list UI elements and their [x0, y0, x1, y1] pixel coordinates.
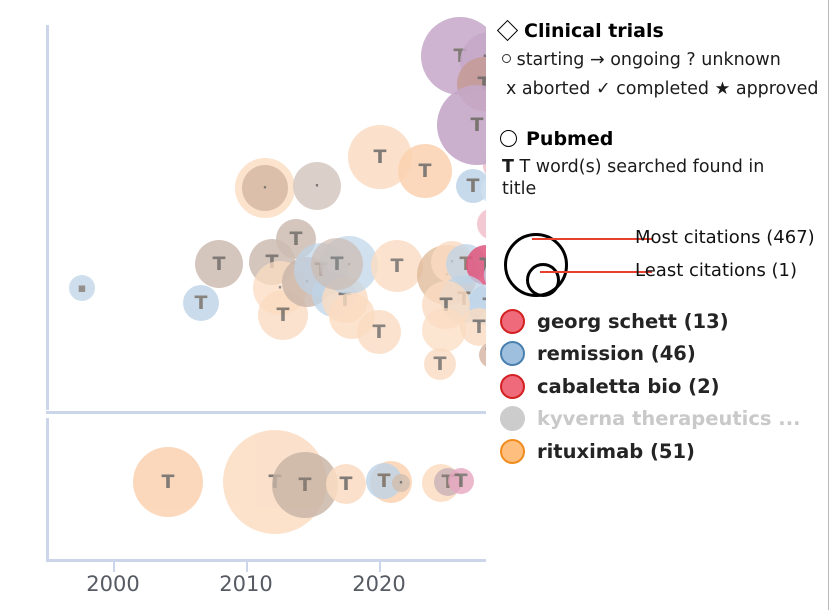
data-bubble[interactable]: T — [195, 240, 243, 288]
bubble-title-marker: T — [162, 473, 175, 492]
legend-entry-label: georg schett (13) — [537, 310, 729, 333]
data-bubble[interactable]: T — [311, 238, 363, 290]
citation-size-legend — [504, 233, 624, 305]
pubmed-title-note: T T word(s) searched found in title — [502, 157, 772, 201]
legend-divider — [828, 0, 829, 610]
legend-entry[interactable]: cabaletta bio (2) — [500, 370, 801, 403]
data-bubble[interactable]: · — [293, 162, 341, 210]
pubmed-t-glyph: T — [502, 157, 514, 177]
data-bubble[interactable]: T — [398, 144, 452, 198]
legend-color-swatch — [500, 341, 525, 366]
legend-color-swatch — [500, 309, 525, 334]
x-axis-tick-label: 2000 — [86, 572, 139, 596]
clinical-trials-status-line-2: x aborted ✓ completed ★ approved — [506, 79, 819, 99]
data-bubble[interactable]: T — [424, 348, 456, 380]
bubble-title-marker: T — [340, 475, 353, 494]
legend-color-swatch — [500, 406, 525, 431]
bubble-dot-marker: · — [263, 182, 268, 195]
bubble-title-marker: T — [467, 177, 480, 196]
size-circle-least-citations — [526, 263, 560, 297]
bubble-title-marker: T — [373, 323, 386, 342]
x-axis-tick-label: 2020 — [352, 572, 405, 596]
bubble-title-marker: T — [213, 255, 226, 274]
data-bubble[interactable]: T — [357, 310, 401, 354]
least-citations-label: Least citations (1) — [635, 260, 797, 281]
bubble-title-marker: T — [455, 472, 468, 491]
circle-outline-icon — [500, 130, 517, 147]
pubmed-heading: Pubmed — [500, 128, 613, 150]
bubble-dot-marker: · — [315, 180, 320, 193]
data-bubble[interactable]: T — [448, 468, 474, 494]
x-axis-tick — [379, 561, 381, 572]
legend-entry[interactable]: kyverna therapeutics ... — [500, 403, 801, 436]
bubble-title-marker: T — [378, 472, 391, 491]
bubble-dot-marker: ▪ — [78, 282, 87, 295]
data-bubble[interactable]: T — [183, 285, 219, 321]
data-bubble[interactable] — [477, 208, 486, 240]
bubble-title-marker: T — [434, 355, 447, 374]
bubble-title-marker: T — [195, 294, 208, 313]
legend-entry-label: cabaletta bio (2) — [537, 375, 720, 398]
data-bubble[interactable]: ▪ — [69, 275, 95, 301]
x-axis-tick — [246, 561, 248, 572]
legend-entry[interactable]: georg schett (13) — [500, 305, 801, 338]
bubble-title-marker: T — [299, 476, 312, 495]
bubble-title-marker: T — [471, 116, 484, 135]
x-axis-tick — [113, 561, 115, 572]
panel-divider — [46, 411, 486, 414]
lower-plot-panel: TTTTT·TT — [49, 415, 486, 558]
x-axis-tick-label: 2010 — [219, 572, 272, 596]
legend-entry-label: rituximab (51) — [537, 440, 695, 463]
most-citations-label: Most citations (467) — [635, 227, 815, 248]
clinical-trials-status-line-1: starting → ongoing ? unknown — [502, 50, 781, 70]
legend-color-swatch — [500, 374, 525, 399]
x-axis-line — [46, 559, 486, 562]
legend-entry-label: kyverna therapeutics ... — [537, 407, 801, 430]
bubble-title-marker: T — [473, 318, 486, 337]
bubble-title-marker: T — [374, 148, 387, 167]
legend-entry-label: remission (46) — [537, 342, 696, 365]
data-bubble[interactable]: T — [326, 464, 366, 504]
bubble-title-marker: T — [391, 257, 404, 276]
clinical-trials-heading: Clinical trials — [500, 20, 664, 42]
data-bubble[interactable]: T — [371, 240, 423, 292]
legend-panel: Clinical trials starting → ongoing ? unk… — [492, 0, 836, 610]
diamond-outline-icon — [497, 20, 518, 41]
small-circle-icon — [502, 54, 511, 63]
bubble-dot-marker: · — [399, 477, 404, 490]
bubble-title-marker: T — [277, 306, 290, 325]
bubble-chart: ▪TT··TT·T·TT·TTTTT··TTTTT·TTTTT·TTTTT TT… — [0, 0, 486, 610]
bubble-title-marker: T — [419, 162, 432, 181]
bubble-title-marker: T — [331, 255, 344, 274]
legend-color-swatch — [500, 439, 525, 464]
data-bubble[interactable]: · — [242, 165, 288, 211]
data-bubble[interactable]: T — [460, 308, 486, 346]
series-color-legend: georg schett (13)remission (46)cabaletta… — [500, 305, 801, 468]
legend-entry[interactable]: rituximab (51) — [500, 435, 801, 468]
legend-entry[interactable]: remission (46) — [500, 338, 801, 371]
data-bubble[interactable]: T — [133, 447, 203, 517]
leader-line-most — [532, 238, 652, 240]
bubble-title-marker: T — [290, 230, 303, 249]
upper-plot-panel: ▪TT··TT·T·TT·TTTTT··TTTTT·TTTTT·TTTTT — [49, 0, 486, 410]
data-bubble[interactable]: · — [392, 474, 410, 492]
